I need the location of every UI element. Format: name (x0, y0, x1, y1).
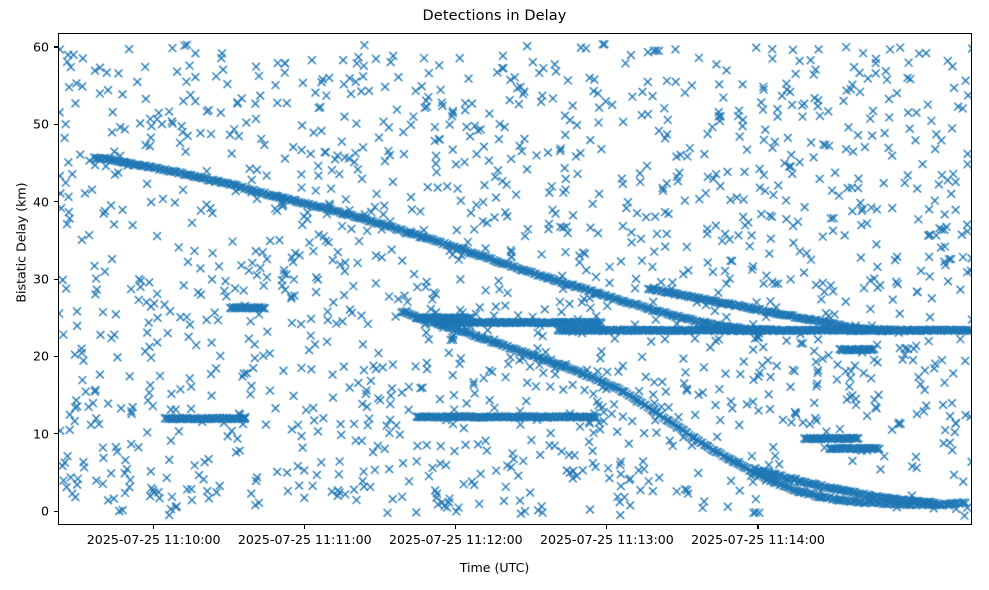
y-tick-mark (54, 279, 58, 280)
y-tick-mark (54, 433, 58, 434)
x-tick-label: 2025-07-25 11:10:00 (87, 532, 221, 547)
y-tick-mark (54, 201, 58, 202)
page-title: Detections in Delay (0, 8, 989, 24)
x-tick-label: 2025-07-25 11:11:00 (238, 532, 372, 547)
x-tick-mark (606, 525, 607, 529)
scatter-plot-canvas (59, 34, 972, 525)
y-tick-label: 50 (5, 117, 49, 132)
y-tick-label: 0 (5, 504, 49, 519)
x-tick-mark (757, 525, 758, 529)
figure: Detections in Delay 0102030405060 2025-0… (0, 0, 989, 590)
y-tick-mark (54, 511, 58, 512)
x-tick-label: 2025-07-25 11:13:00 (540, 532, 674, 547)
plot-area (58, 33, 972, 525)
y-tick-mark (54, 46, 58, 47)
x-tick-mark (455, 525, 456, 529)
y-axis-label: Bistatic Delay (km) (14, 143, 29, 343)
x-axis-tick-labels: 2025-07-25 11:10:002025-07-25 11:11:0020… (0, 532, 989, 552)
y-tick-label: 20 (5, 349, 49, 364)
x-axis-ticks (0, 525, 989, 531)
x-tick-mark (153, 525, 154, 529)
y-tick-label: 60 (5, 39, 49, 54)
x-tick-label: 2025-07-25 11:12:00 (389, 532, 523, 547)
y-tick-mark (54, 356, 58, 357)
x-axis-label: Time (UTC) (0, 560, 989, 575)
x-tick-mark (304, 525, 305, 529)
x-tick-label: 2025-07-25 11:14:00 (691, 532, 825, 547)
y-tick-mark (54, 124, 58, 125)
y-tick-label: 10 (5, 426, 49, 441)
